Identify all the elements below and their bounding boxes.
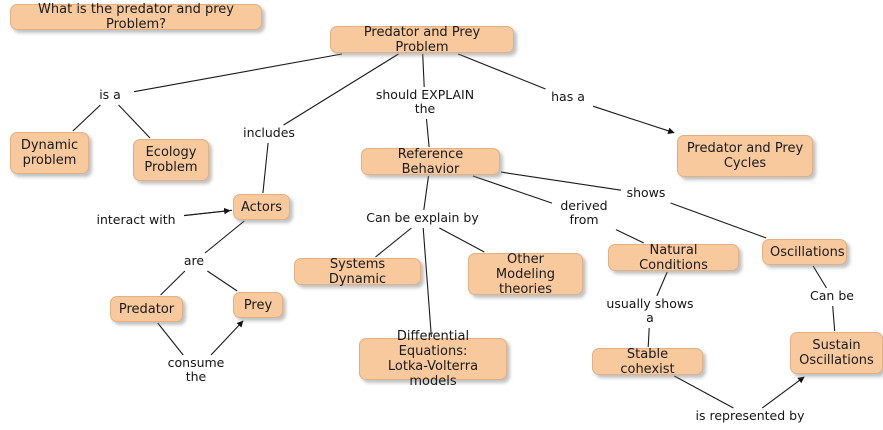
concept-node-label: Reference Behavior bbox=[369, 147, 492, 177]
edge-are-to-prey bbox=[207, 271, 237, 291]
link-label-shows: shows bbox=[622, 186, 670, 200]
edge-derived-to-natcond bbox=[616, 230, 644, 243]
edge-problem-to-hasa bbox=[458, 54, 545, 89]
link-label-should-explain: should EXPLAIN the bbox=[370, 88, 480, 116]
concept-node-actors[interactable]: Actors bbox=[233, 194, 290, 220]
edge-consume-to-prey bbox=[211, 321, 243, 355]
link-label-consume-the: consume the bbox=[160, 356, 232, 384]
edge-canbe-to-diffeq bbox=[423, 228, 431, 337]
edge-shows-to-oscillations bbox=[671, 203, 767, 238]
concept-map-canvas: What is the predator and prey Problem?Pr… bbox=[0, 0, 883, 430]
edge-usually-to-stable bbox=[648, 328, 649, 347]
concept-node-label: Differential Equations: Lotka-Volterra m… bbox=[367, 329, 499, 389]
edge-refbehavior-to-canbe bbox=[424, 176, 429, 210]
link-label-derived-from: derived from bbox=[553, 199, 615, 227]
concept-node-label: Predator and Prey Cycles bbox=[685, 141, 805, 171]
link-label-is-represented-by: is represented by bbox=[688, 409, 812, 423]
edge-problem-to-isa bbox=[134, 54, 342, 92]
concept-node-prey[interactable]: Prey bbox=[233, 292, 283, 318]
link-label-usually-shows-a: usually shows a bbox=[600, 297, 700, 325]
edge-hasa-to-cycles bbox=[593, 106, 674, 133]
concept-node-sysdyn[interactable]: Systems Dynamic bbox=[294, 258, 421, 285]
link-label-interact-with: interact with bbox=[89, 213, 183, 227]
edge-includes-to-actors bbox=[263, 143, 268, 193]
edge-problem-to-explain bbox=[423, 54, 425, 87]
concept-node-sustain[interactable]: Sustain Oscillations bbox=[790, 332, 883, 374]
concept-node-label: Actors bbox=[241, 200, 282, 215]
concept-node-label: Dynamic problem bbox=[18, 138, 81, 168]
concept-node-label: What is the predator and prey Problem? bbox=[18, 2, 254, 32]
edge-isa-to-ecology bbox=[119, 105, 150, 138]
edge-stable-to-represented bbox=[674, 376, 733, 408]
edge-are-to-predator bbox=[161, 271, 185, 295]
concept-node-label: Ecology Problem bbox=[141, 145, 201, 175]
concept-node-othertheories[interactable]: Other Modeling theories bbox=[468, 253, 583, 295]
edge-isa-to-dynamic bbox=[73, 105, 101, 131]
concept-node-predator[interactable]: Predator bbox=[110, 296, 183, 322]
concept-node-label: Systems Dynamic bbox=[302, 257, 413, 287]
concept-node-question[interactable]: What is the predator and prey Problem? bbox=[10, 4, 262, 30]
concept-node-label: Sustain Oscillations bbox=[798, 338, 875, 368]
concept-node-label: Oscillations bbox=[770, 245, 839, 260]
concept-node-label: Natural Conditions bbox=[616, 243, 731, 273]
link-label-is-a: is a bbox=[87, 88, 133, 102]
edge-canbe-to-othertheories bbox=[439, 228, 484, 252]
concept-node-label: Prey bbox=[241, 298, 275, 313]
link-label-includes: includes bbox=[234, 126, 304, 140]
edge-actors-to-are bbox=[205, 221, 244, 253]
concept-node-stable[interactable]: Stable cohexist bbox=[592, 348, 703, 375]
edge-canbe2-to-sustain bbox=[833, 306, 835, 331]
edge-explain-to-refbehavior bbox=[427, 119, 430, 147]
concept-node-oscillations[interactable]: Oscillations bbox=[762, 239, 847, 265]
concept-node-problem[interactable]: Predator and Prey Problem bbox=[330, 26, 514, 53]
concept-node-label: Predator bbox=[118, 302, 175, 317]
concept-node-natcond[interactable]: Natural Conditions bbox=[608, 244, 739, 271]
edge-canbe-to-sysdyn bbox=[376, 228, 412, 257]
edge-natcond-to-usually bbox=[657, 272, 667, 296]
edge-refbehavior-to-shows bbox=[501, 172, 621, 190]
concept-node-label: Other Modeling theories bbox=[476, 252, 575, 297]
concept-node-ecology[interactable]: Ecology Problem bbox=[133, 139, 209, 181]
concept-node-cycles[interactable]: Predator and Prey Cycles bbox=[677, 135, 813, 177]
link-label-are: are bbox=[178, 254, 210, 268]
edge-predator-to-consume bbox=[158, 323, 184, 355]
concept-node-label: Stable cohexist bbox=[600, 347, 695, 377]
edge-problem-to-includes bbox=[284, 54, 399, 125]
link-label-has-a: has a bbox=[544, 90, 592, 104]
link-label-can-be-explain: Can be explain by bbox=[359, 211, 486, 225]
edge-refbehavior-to-derived bbox=[473, 176, 552, 203]
edge-interactwith-to-actors bbox=[184, 211, 230, 216]
concept-node-diffeq[interactable]: Differential Equations: Lotka-Volterra m… bbox=[359, 338, 507, 380]
edge-oscillations-to-canbe2 bbox=[813, 266, 826, 288]
edge-represented-to-sustain bbox=[762, 377, 804, 408]
concept-node-dynamic[interactable]: Dynamic problem bbox=[10, 132, 89, 174]
edge-actors-to-interactwith bbox=[184, 210, 232, 215]
concept-node-label: Predator and Prey Problem bbox=[338, 25, 506, 55]
link-label-can-be: Can be bbox=[805, 289, 859, 303]
concept-node-refbehavior[interactable]: Reference Behavior bbox=[361, 148, 500, 175]
